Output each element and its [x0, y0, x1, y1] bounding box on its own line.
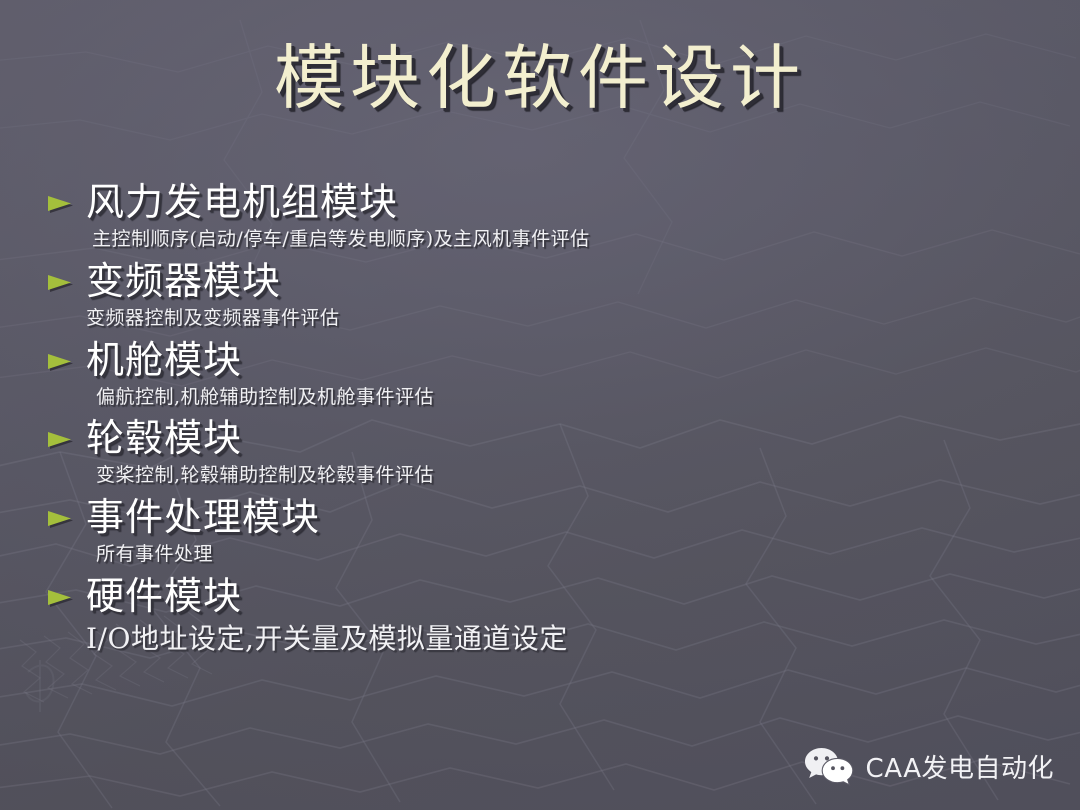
list-item-subtext: 所有事件处理 [44, 543, 1024, 566]
list-item-heading: 轮毂模块 [86, 419, 242, 457]
list-item-heading: 机舱模块 [86, 341, 242, 379]
bullet-heading-row: 轮毂模块 [44, 414, 1024, 462]
wechat-icon [804, 746, 856, 786]
list-item-heading: 风力发电机组模块 [86, 183, 398, 221]
list-item: 变频器模块 变频器控制及变频器事件评估 [44, 257, 1024, 330]
list-item-heading: 硬件模块 [86, 577, 242, 615]
list-item: 风力发电机组模块 主控制顺序(启动/停车/重启等发电顺序)及主风机事件评估 [44, 178, 1024, 251]
watermark: CAA发电自动化 [804, 746, 1054, 786]
presentation-slide: 模块化软件设计 风力发电机组模块 主控制顺序(启动/停车/重启等发电顺序)及主风… [0, 0, 1080, 810]
list-item-subtext: 变桨控制,轮毂辅助控制及轮毂事件评估 [44, 464, 1024, 487]
list-item: 机舱模块 偏航控制,机舱辅助控制及机舱事件评估 [44, 336, 1024, 409]
watermark-label: CAA发电自动化 [866, 748, 1054, 785]
triangle-right-bullet-icon [44, 269, 74, 295]
bullet-heading-row: 风力发电机组模块 [44, 178, 1024, 226]
list-item: 硬件模块 I/O地址设定,开关量及模拟量通道设定 [44, 572, 1024, 656]
title-container: 模块化软件设计 [0, 42, 1080, 116]
list-item-subtext: 偏航控制,机舱辅助控制及机舱事件评估 [44, 386, 1024, 409]
bullet-heading-row: 机舱模块 [44, 336, 1024, 384]
list-item-subtext: 变频器控制及变频器事件评估 [44, 307, 1024, 330]
list-item: 事件处理模块 所有事件处理 [44, 493, 1024, 566]
bullet-list: 风力发电机组模块 主控制顺序(启动/停车/重启等发电顺序)及主风机事件评估 变频… [44, 178, 1024, 662]
list-item: 轮毂模块 变桨控制,轮毂辅助控制及轮毂事件评估 [44, 414, 1024, 487]
bullet-heading-row: 硬件模块 [44, 572, 1024, 620]
triangle-right-bullet-icon [44, 505, 74, 531]
list-item-subtext: I/O地址设定,开关量及模拟量通道设定 [44, 622, 1024, 656]
triangle-right-bullet-icon [44, 426, 74, 452]
bullet-heading-row: 变频器模块 [44, 257, 1024, 305]
list-item-subtext: 主控制顺序(启动/停车/重启等发电顺序)及主风机事件评估 [44, 228, 1024, 251]
triangle-right-bullet-icon [44, 190, 74, 216]
bullet-heading-row: 事件处理模块 [44, 493, 1024, 541]
list-item-heading: 变频器模块 [86, 262, 281, 300]
triangle-right-bullet-icon [44, 348, 74, 374]
list-item-heading: 事件处理模块 [86, 498, 320, 536]
page-title: 模块化软件设计 [274, 42, 806, 116]
triangle-right-bullet-icon [44, 584, 74, 610]
